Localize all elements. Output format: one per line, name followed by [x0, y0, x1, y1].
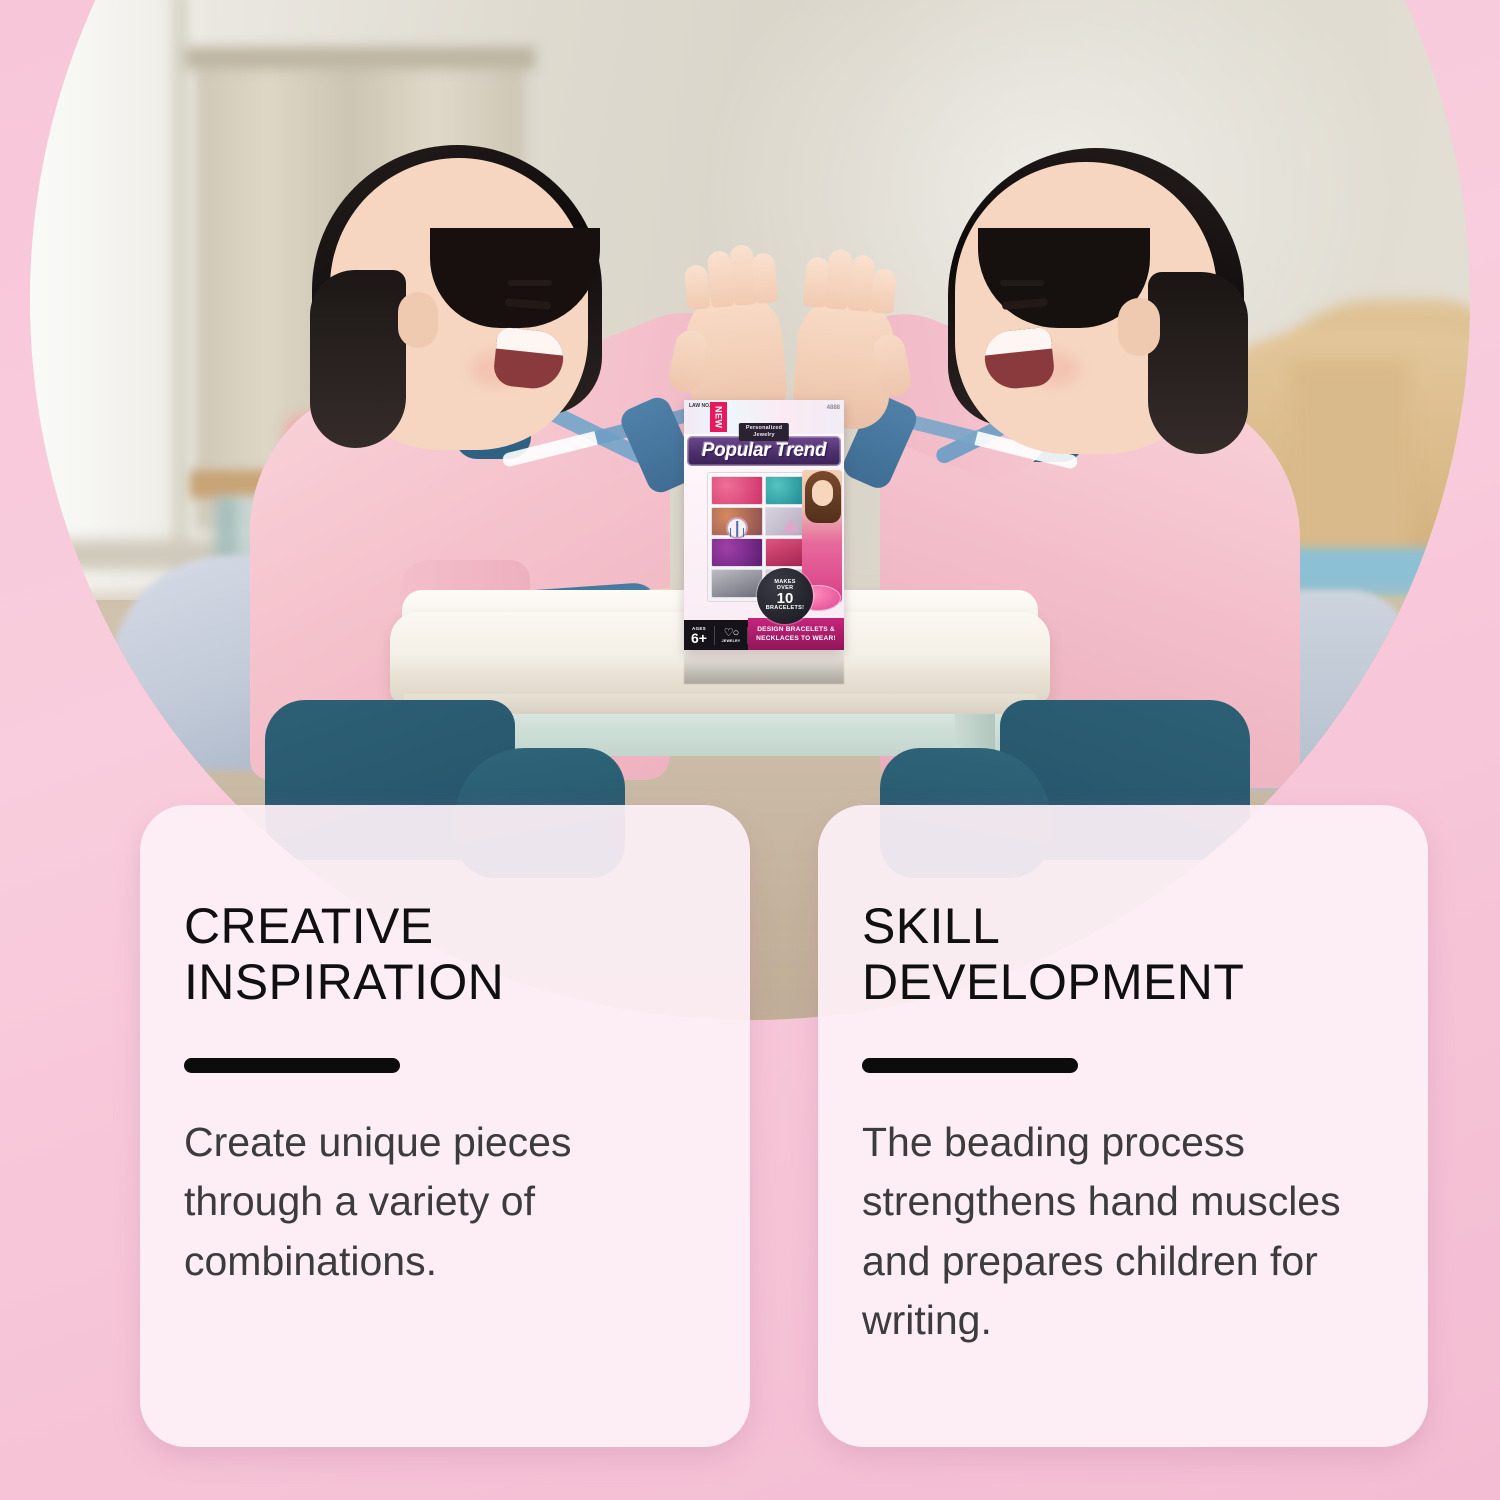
jewelry-icon-block: ♡○ JEWELRY [715, 627, 748, 644]
ages-value: 6+ [684, 631, 714, 645]
child-right-eyebrow [1000, 280, 1044, 286]
box-tag-line2: Jewelry [753, 432, 775, 438]
product-box-reflection [684, 650, 844, 684]
badge-number: 10 [777, 591, 794, 606]
badge-line3: BRACELETS! [766, 606, 804, 612]
box-call-to-action: DESIGN BRACELETS & NECKLACES TO WEAR! [748, 618, 844, 650]
card-title: SKILL DEVELOPMENT [862, 898, 1384, 1010]
bead-compartment [765, 476, 804, 505]
box-product-code: 4888 [827, 405, 840, 411]
card-divider-rule [862, 1058, 1078, 1073]
child-left-hair-side [310, 270, 406, 448]
child-left-ear [398, 292, 438, 348]
cabinet-top-trim [185, 47, 535, 69]
cta-line2: NECKLACES TO WEAR! [756, 635, 836, 644]
jewelry-icon-label: JEWELRY [715, 639, 747, 643]
child-right-hair-side [1148, 272, 1248, 454]
window-frame [172, 0, 188, 590]
peace-sign-charm-icon [726, 517, 748, 539]
bead-compartment [765, 538, 804, 567]
finger [751, 252, 778, 304]
box-tag-line1: Personalized [746, 425, 782, 431]
feature-card-skill-development: SKILL DEVELOPMENT The beading process st… [818, 805, 1428, 1447]
bead-compartment [711, 569, 763, 598]
makes-over-10-bracelets-badge: MAKES OVER 10 BRACELETS! [757, 568, 813, 624]
ages-badge: AGES 6+ [684, 626, 715, 645]
bead-compartment [711, 538, 763, 567]
box-new-flag: NEW [710, 402, 727, 432]
box-personalized-jewelry-tag: Personalized Jewelry [739, 423, 789, 441]
card-body-text: The beading process strengthens hand mus… [862, 1113, 1384, 1351]
box-law-no-label: LAW NO. [689, 404, 710, 410]
necklace-bracelet-icon: ♡○ [715, 628, 747, 639]
card-divider-rule [184, 1058, 400, 1073]
box-title: Popular Trend [702, 440, 827, 462]
child-left-eyebrow [508, 280, 552, 286]
feature-card-creative-inspiration: CREATIVE INSPIRATION Create unique piece… [140, 805, 750, 1447]
box-model-face [812, 480, 833, 506]
card-body-text: Create unique pieces through a variety o… [184, 1113, 706, 1291]
box-bottom-bar: AGES 6+ ♡○ JEWELRY DESIGN BRACELETS & NE… [684, 620, 844, 650]
bead-compartment [711, 476, 763, 505]
star-charm-icon [782, 519, 800, 532]
finger [684, 264, 711, 310]
product-feature-graphic: LAW NO. NEW 4888 Personalized Jewelry Po… [0, 0, 1500, 1500]
cta-line1: DESIGN BRACELETS & [757, 626, 835, 635]
card-title: CREATIVE INSPIRATION [184, 898, 706, 1010]
child-right-ear [1118, 298, 1160, 356]
finger [870, 268, 897, 314]
product-box: LAW NO. NEW 4888 Personalized Jewelry Po… [684, 400, 844, 650]
